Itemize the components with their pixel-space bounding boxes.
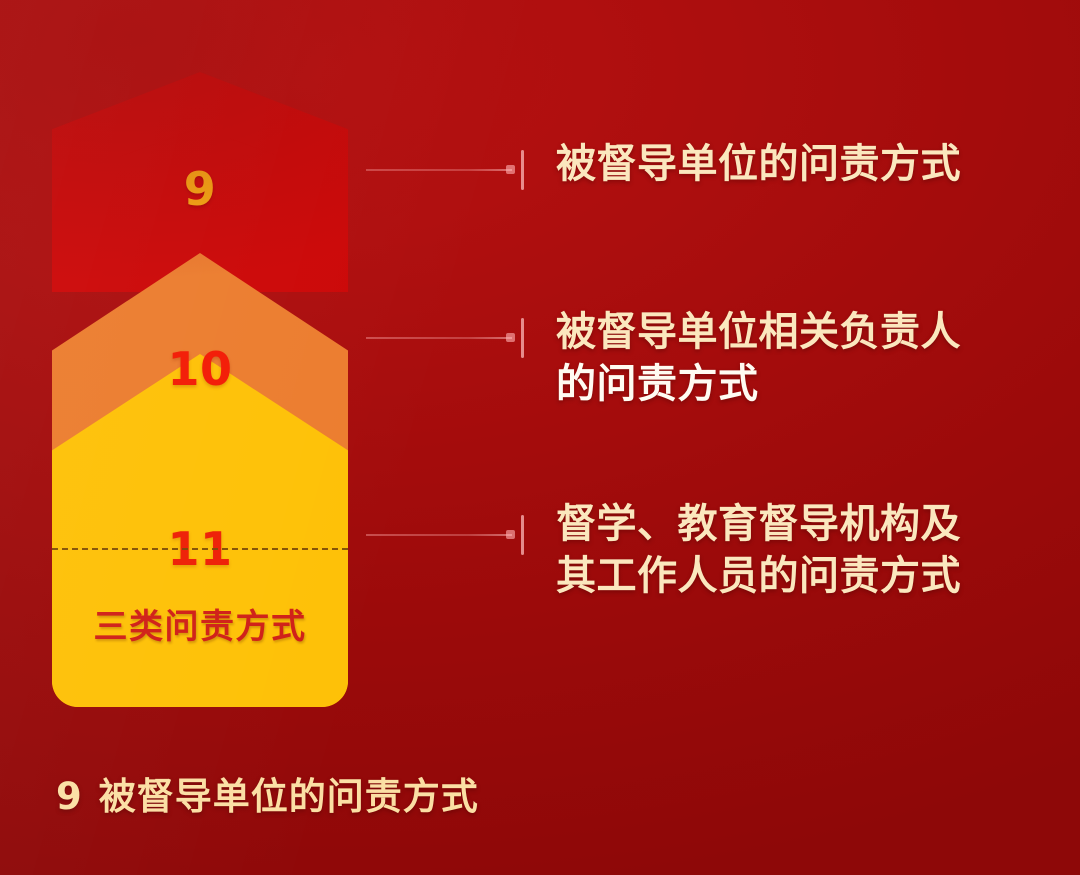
callout-label-2: 被督导单位相关负责人 的问责方式 xyxy=(556,306,1056,410)
three-tier-pyramid: 9 10 11 三类问责方式 xyxy=(52,62,348,707)
connector-line-2 xyxy=(366,318,526,358)
callout-2-line-2: 的问责方式 xyxy=(556,358,1056,410)
callout-1-line-1: 被督导单位的问责方式 xyxy=(556,138,1056,190)
connector-horizontal-rule-1 xyxy=(366,169,512,171)
connector-endpoint-dot-3 xyxy=(506,530,515,539)
callout-3-line-1: 督学、教育督导机构及 xyxy=(556,498,1056,550)
pyramid-caption: 三类问责方式 xyxy=(52,599,348,648)
connector-vertical-tick-2 xyxy=(521,318,524,358)
connector-horizontal-rule-2 xyxy=(366,337,512,339)
bottom-headline: 9被督导单位的问责方式 xyxy=(56,766,479,820)
connector-vertical-tick-1 xyxy=(521,150,524,190)
connector-line-3 xyxy=(366,515,526,555)
callout-3-line-2: 其工作人员的问责方式 xyxy=(556,550,1056,602)
infographic-canvas: 9 10 11 三类问责方式 被督导单位的问责方式 被督导单位相关负责人 的问责… xyxy=(0,0,1080,875)
connector-vertical-tick-3 xyxy=(521,515,524,555)
callout-label-3: 督学、教育督导机构及 其工作人员的问责方式 xyxy=(556,498,1056,602)
dashed-divider xyxy=(52,548,348,550)
bottom-headline-title: 被督导单位的问责方式 xyxy=(99,775,479,818)
pyramid-number-10: 10 xyxy=(52,346,348,392)
callout-label-1: 被督导单位的问责方式 xyxy=(556,138,1056,190)
pyramid-number-9: 9 xyxy=(52,166,348,212)
callout-2-line-1: 被督导单位相关负责人 xyxy=(556,306,1056,358)
connector-endpoint-dot-1 xyxy=(506,165,515,174)
bottom-headline-index: 9 xyxy=(56,775,83,818)
connector-horizontal-rule-3 xyxy=(366,534,512,536)
connector-endpoint-dot-2 xyxy=(506,333,515,342)
connector-line-1 xyxy=(366,150,526,190)
